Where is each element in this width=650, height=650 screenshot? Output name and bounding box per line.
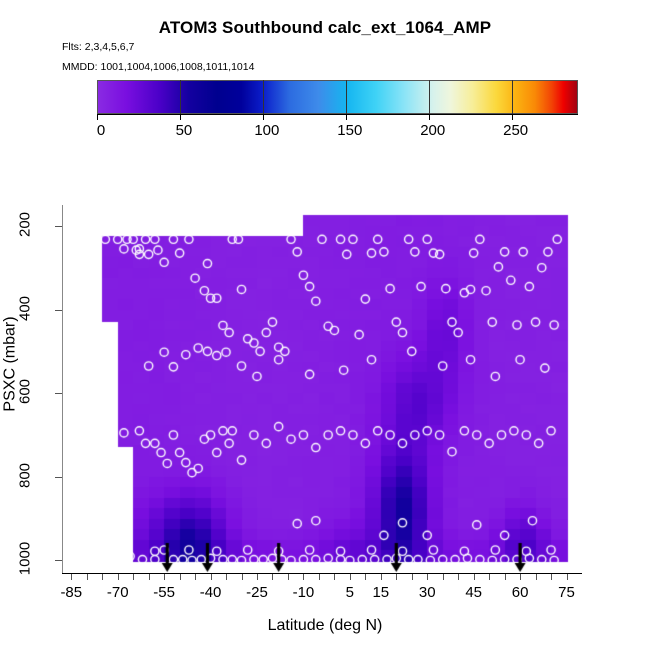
x-axis-tick xyxy=(381,574,382,580)
x-axis-tick xyxy=(551,574,552,580)
x-axis-tick xyxy=(520,574,521,580)
x-axis-tick-label: 15 xyxy=(372,584,389,601)
x-axis-tick xyxy=(87,574,88,580)
y-axis-tick xyxy=(55,477,62,478)
x-axis-tick-label: 75 xyxy=(558,584,575,601)
y-axis-tick xyxy=(55,310,62,311)
x-axis-tick-label: -10 xyxy=(293,584,315,601)
heatmap-canvas xyxy=(62,205,582,573)
colorbar-tick xyxy=(97,114,98,120)
x-axis-tick xyxy=(242,574,243,580)
colorbar-tick xyxy=(263,114,264,120)
colorbar-tick-label: 150 xyxy=(337,122,362,139)
y-axis-tick xyxy=(55,226,62,227)
colorbar-tick-label: 250 xyxy=(503,122,528,139)
x-axis-title: Latitude (deg N) xyxy=(0,617,650,635)
colorbar-separator xyxy=(512,80,513,114)
x-axis-tick xyxy=(211,574,212,580)
x-axis-tick-label: 45 xyxy=(465,584,482,601)
x-axis-tick xyxy=(474,574,475,580)
x-axis-tick xyxy=(396,574,397,580)
x-axis-tick xyxy=(71,574,72,580)
mmdd-annotation: MMDD: 1001,1004,1006,1008,1011,1014 xyxy=(62,61,254,73)
x-axis-tick xyxy=(303,574,304,580)
colorbar-separator xyxy=(429,80,430,114)
x-axis-tick xyxy=(118,574,119,580)
x-axis-tick-label: -70 xyxy=(107,584,129,601)
colorbar xyxy=(97,80,578,114)
y-axis-tick xyxy=(55,393,62,394)
colorbar-tick-label: 200 xyxy=(420,122,445,139)
x-axis-tick-label: -85 xyxy=(60,584,82,601)
x-axis-tick xyxy=(412,574,413,580)
x-axis-tick xyxy=(226,574,227,580)
colorbar-separator xyxy=(180,80,181,114)
x-axis-tick xyxy=(272,574,273,580)
x-axis-tick xyxy=(365,574,366,580)
page-title: ATOM3 Southbound calc_ext_1064_AMP xyxy=(0,18,650,38)
colorbar-axis-line xyxy=(97,114,578,115)
x-axis-tick-label: -40 xyxy=(200,584,222,601)
x-axis-tick-label: -25 xyxy=(246,584,268,601)
x-axis-tick xyxy=(505,574,506,580)
y-axis-tick-label: 800 xyxy=(17,450,34,500)
x-axis-tick xyxy=(180,574,181,580)
x-axis-tick xyxy=(319,574,320,580)
x-axis-tick xyxy=(567,574,568,580)
flights-annotation: Flts: 2,3,4,5,6,7 xyxy=(62,41,134,53)
colorbar-tick xyxy=(512,114,513,120)
colorbar-gradient xyxy=(97,80,578,114)
colorbar-separator xyxy=(346,80,347,114)
x-axis-tick-label: 30 xyxy=(419,584,436,601)
x-axis-tick xyxy=(536,574,537,580)
x-axis-tick-label: -55 xyxy=(153,584,175,601)
y-axis-tick-label: 1000 xyxy=(17,534,34,584)
plot-area xyxy=(62,205,582,573)
x-axis-tick xyxy=(443,574,444,580)
colorbar-tick xyxy=(429,114,430,120)
x-axis-tick xyxy=(102,574,103,580)
x-axis-tick-label: 5 xyxy=(346,584,354,601)
colorbar-tick-label: 0 xyxy=(97,122,105,139)
x-axis-tick xyxy=(164,574,165,580)
x-axis-tick xyxy=(350,574,351,580)
y-axis-tick-label: 200 xyxy=(17,199,34,249)
x-axis-tick xyxy=(489,574,490,580)
x-axis-tick xyxy=(195,574,196,580)
x-axis-tick xyxy=(427,574,428,580)
colorbar-tick xyxy=(180,114,181,120)
colorbar-tick xyxy=(346,114,347,120)
x-axis-tick xyxy=(149,574,150,580)
x-axis-tick xyxy=(288,574,289,580)
x-axis-tick xyxy=(334,574,335,580)
y-axis-tick xyxy=(55,560,62,561)
colorbar-tick-label: 50 xyxy=(176,122,193,139)
x-axis-tick xyxy=(133,574,134,580)
colorbar-tick-label: 100 xyxy=(254,122,279,139)
y-axis-title: PSXC (mbar) xyxy=(2,316,20,411)
colorbar-separator xyxy=(263,80,264,114)
x-axis-tick xyxy=(257,574,258,580)
x-axis-tick xyxy=(458,574,459,580)
x-axis-tick-label: 60 xyxy=(512,584,529,601)
